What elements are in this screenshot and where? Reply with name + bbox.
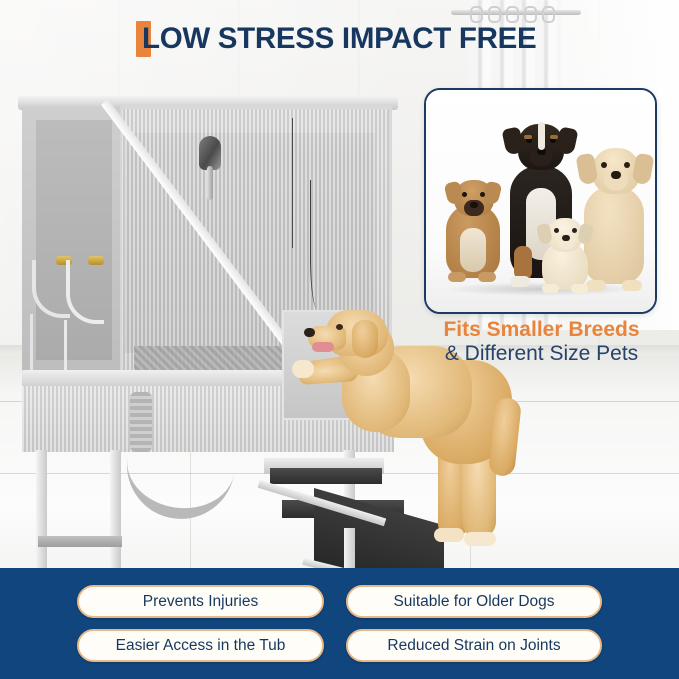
dog-front-paw (292, 360, 314, 378)
dog-tongue (312, 342, 334, 352)
shower-head-stem (207, 166, 213, 200)
page-title: LOW STRESS IMPACT FREE (136, 21, 536, 57)
caption-line-2: & Different Size Pets (424, 342, 659, 366)
tub-leg-front-left (36, 450, 47, 572)
inset-caption: Fits Smaller Breeds & Different Size Pet… (424, 318, 659, 365)
shower-head-icon (199, 136, 221, 170)
benefits-banner: Prevents Injuries Suitable for Older Dog… (0, 568, 679, 679)
hanging-cord-2 (310, 180, 327, 308)
dog-rear-paw (434, 528, 464, 542)
title-text: LOW STRESS IMPACT FREE (142, 22, 536, 56)
dog-size-comparison-panel (424, 88, 657, 314)
tub-left-cabinet (22, 106, 122, 374)
dog-nose (304, 328, 315, 337)
benefit-pill-suitable-older-dogs[interactable]: Suitable for Older Dogs (346, 585, 602, 618)
dog-rear-paw (464, 532, 496, 546)
caption-line-1: Fits Smaller Breeds (424, 318, 659, 342)
dog-eye (336, 324, 343, 330)
product-infographic: LOW STRESS IMPACT FREE (0, 0, 679, 679)
benefit-pill-prevents-injuries[interactable]: Prevents Injuries (77, 585, 324, 618)
benefit-pill-reduced-strain[interactable]: Reduced Strain on Joints (346, 629, 602, 662)
tub-left-cabinet-inner (36, 120, 112, 360)
curtain-ring (542, 6, 555, 23)
tub-leg-back-left (110, 450, 121, 572)
inset-dog-medium-brown (440, 174, 506, 288)
tub-leg-brace (38, 536, 122, 547)
dog-ear (352, 320, 378, 358)
inset-dog-small-puppy (536, 216, 594, 292)
benefits-row-2: Easier Access in the Tub Reduced Strain … (77, 629, 602, 662)
benefit-pill-easier-access[interactable]: Easier Access in the Tub (77, 629, 324, 662)
benefits-row-1: Prevents Injuries Suitable for Older Dog… (77, 585, 602, 618)
